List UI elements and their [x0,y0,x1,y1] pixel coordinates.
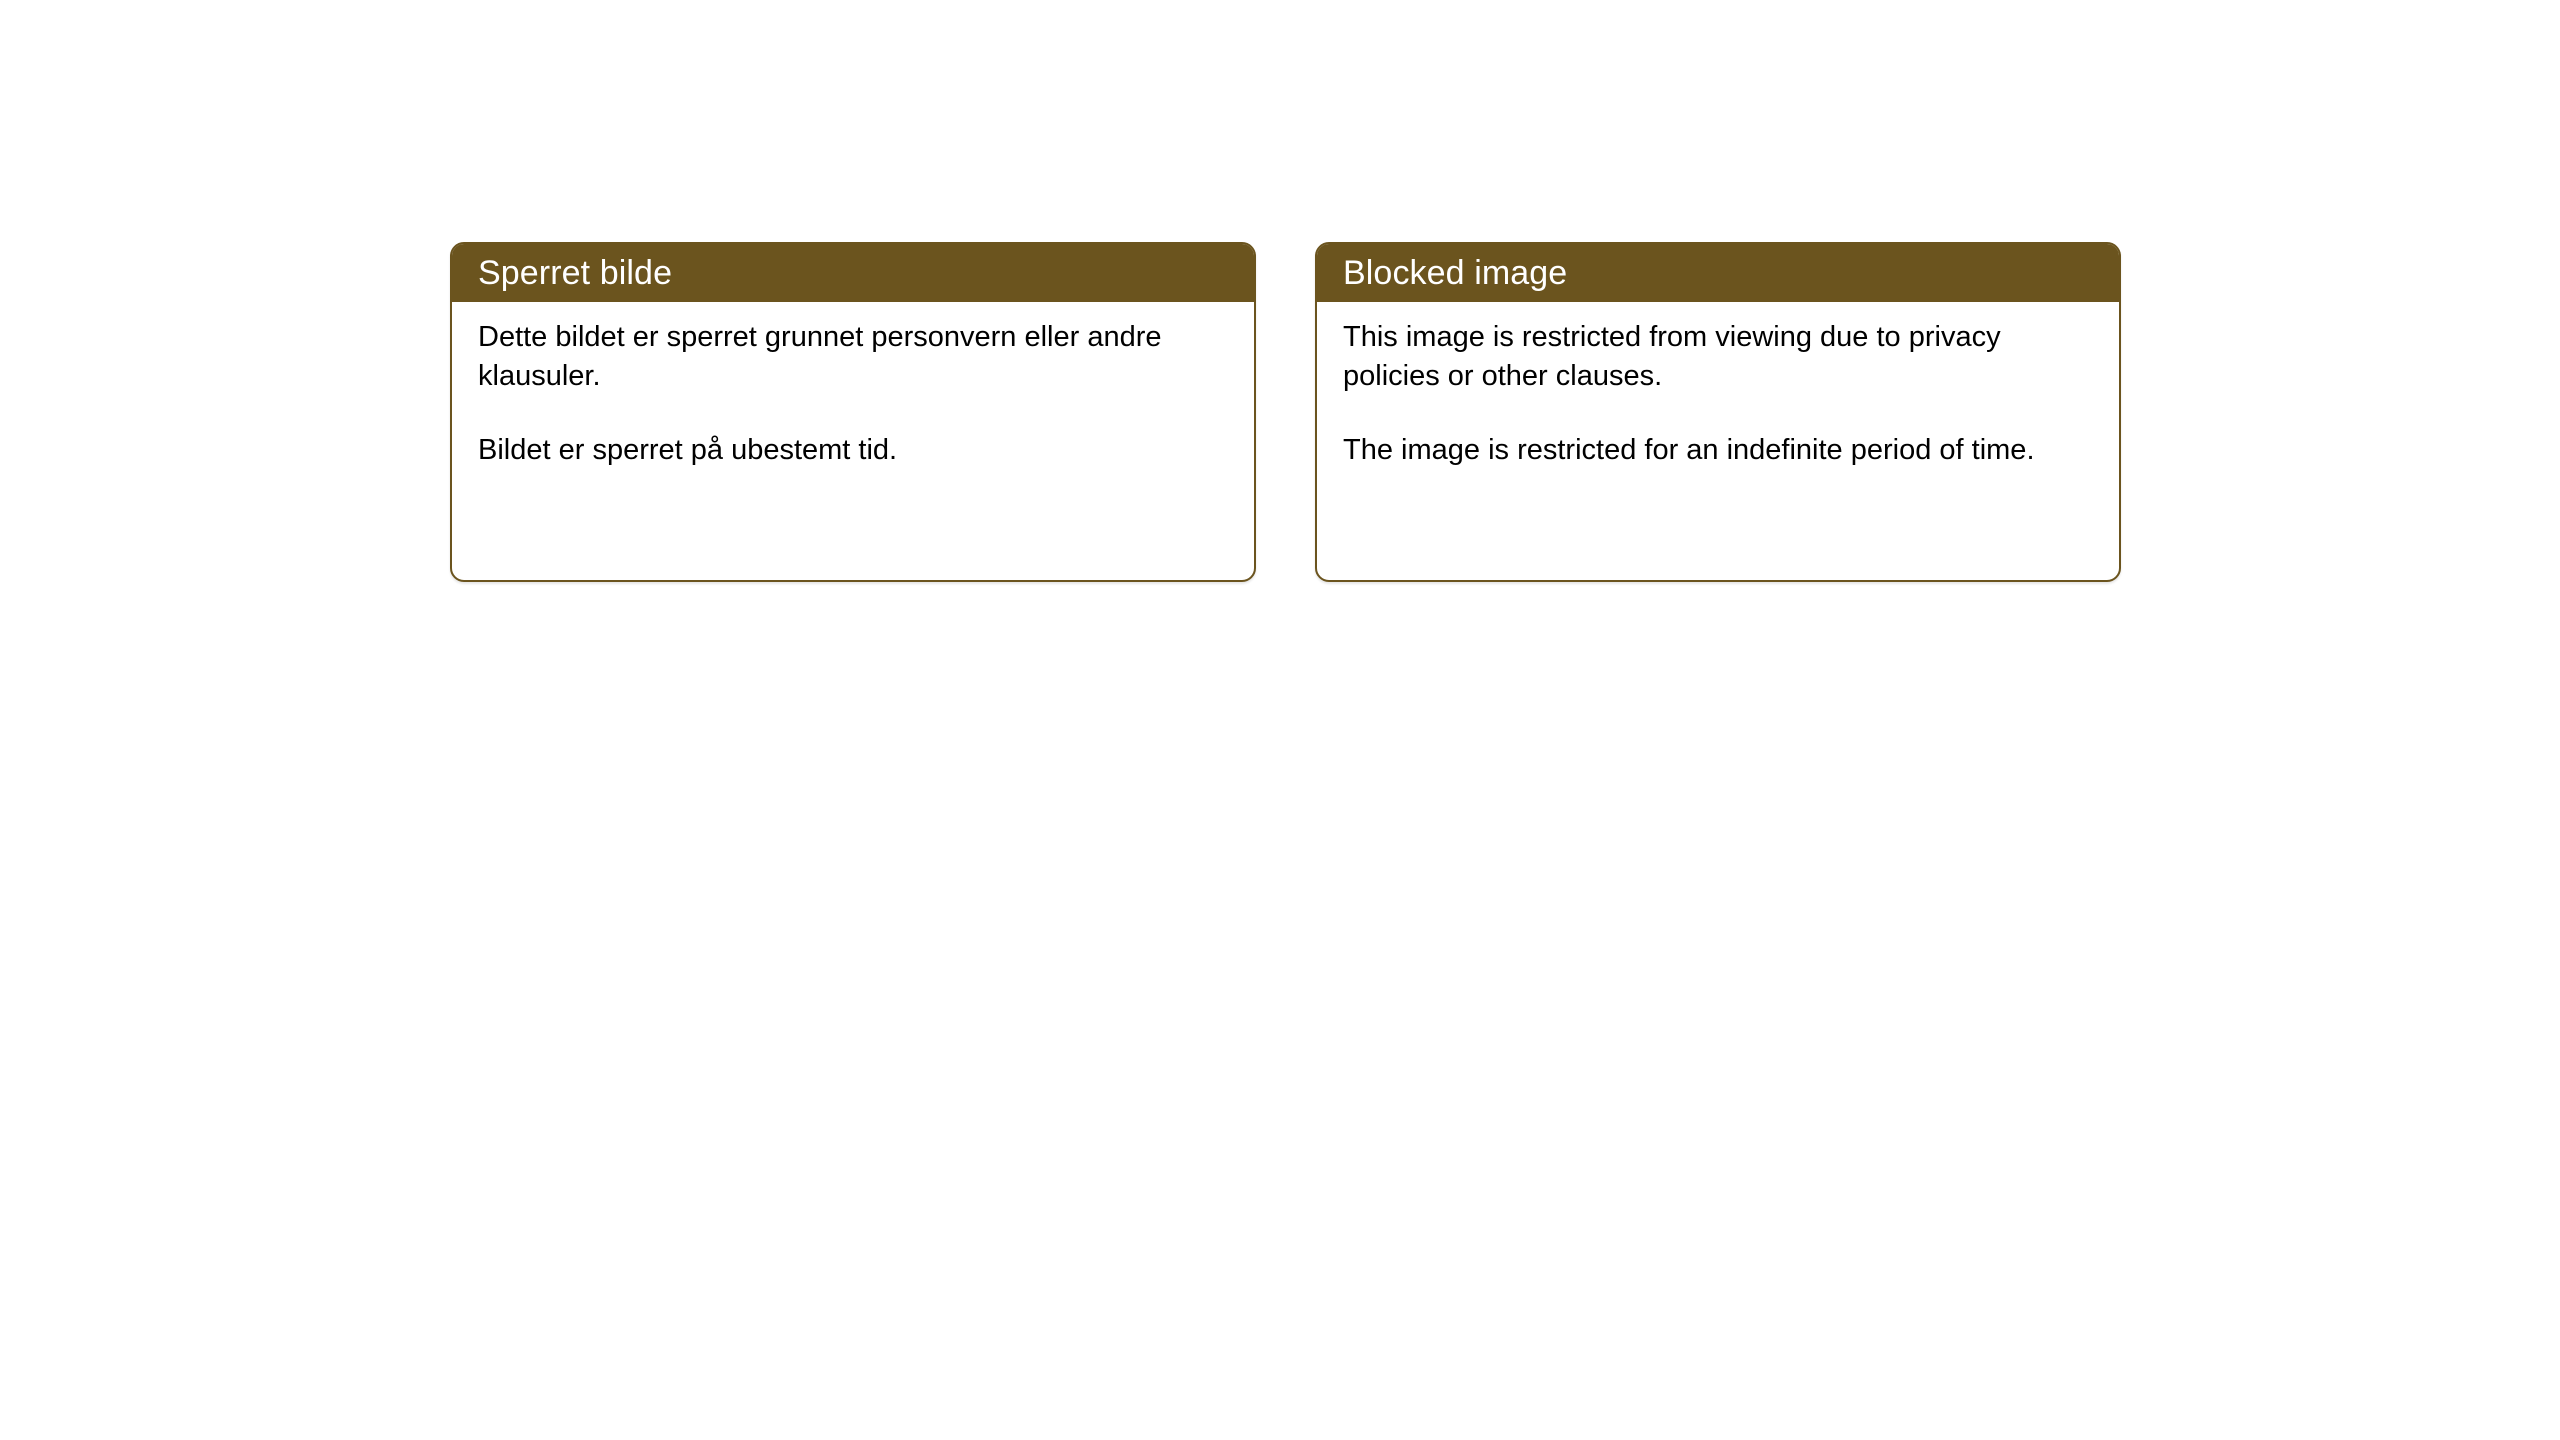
panel-body-norwegian: Dette bildet er sperret grunnet personve… [452,302,1254,470]
panel-body-english: This image is restricted from viewing du… [1317,302,2119,470]
blocked-image-notice-norwegian: Sperret bilde Dette bildet er sperret gr… [450,242,1256,582]
panel-header-english: Blocked image [1317,244,2119,302]
panel-header-norwegian: Sperret bilde [452,244,1254,302]
panel-paragraph-secondary-english: The image is restricted for an indefinit… [1343,431,2093,470]
panel-paragraph-secondary-norwegian: Bildet er sperret på ubestemt tid. [478,431,1228,470]
blocked-image-notice-english: Blocked image This image is restricted f… [1315,242,2121,582]
page-canvas: Sperret bilde Dette bildet er sperret gr… [0,0,2560,1440]
panel-title-norwegian: Sperret bilde [478,256,672,290]
panel-paragraph-primary-english: This image is restricted from viewing du… [1343,318,2093,395]
panel-title-english: Blocked image [1343,256,1567,290]
panel-paragraph-primary-norwegian: Dette bildet er sperret grunnet personve… [478,318,1228,395]
